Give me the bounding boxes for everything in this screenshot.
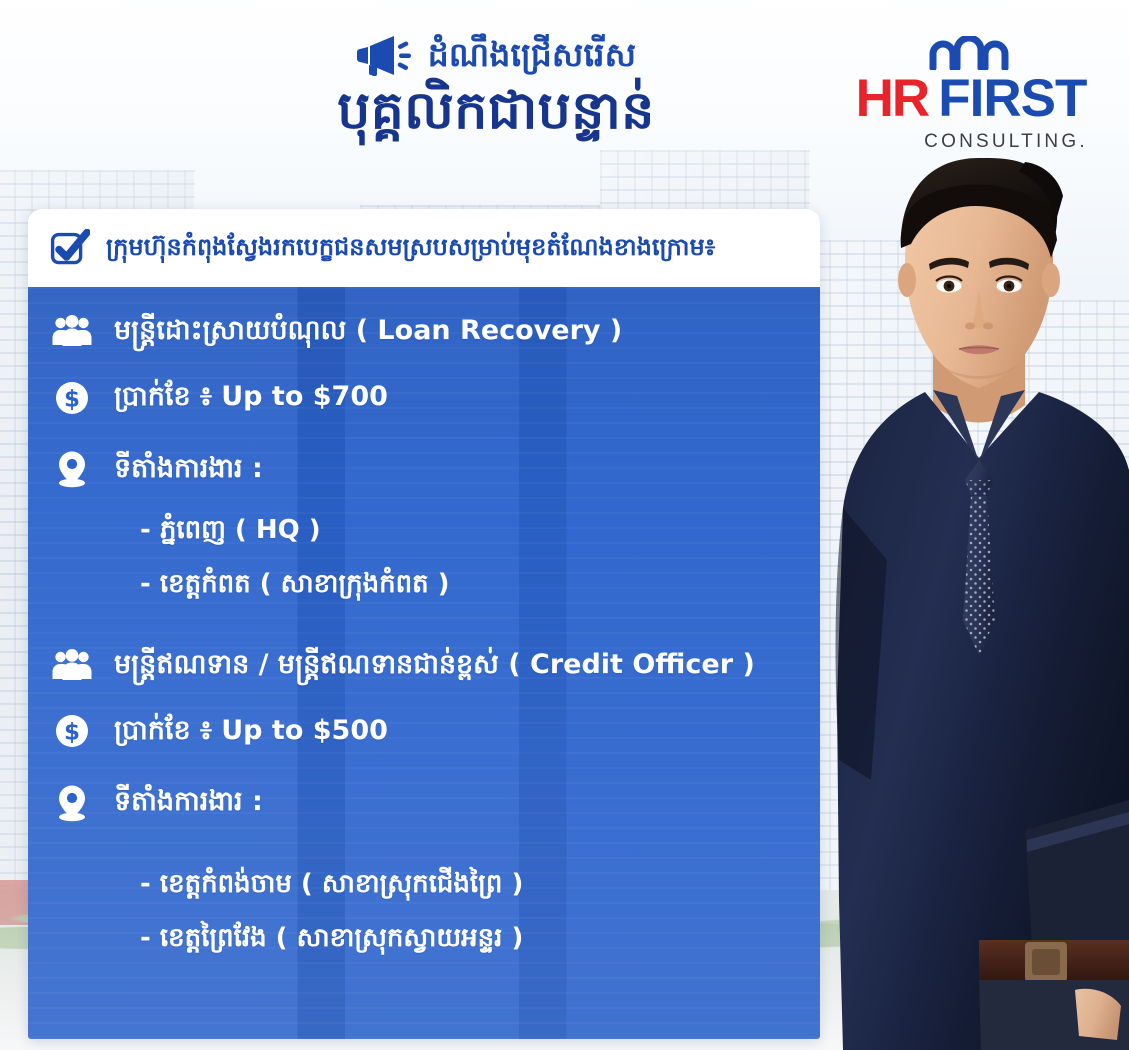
- brand-logo: HR FIRST CONSULTING.: [835, 36, 1107, 153]
- card-body: មន្ត្រីដោះស្រាយបំណុល ( Loan Recovery ) $…: [28, 287, 820, 1039]
- poster-title: បុគ្គលិកជាបន្ទាន់: [186, 80, 806, 142]
- job-salary-row: $ ប្រាក់ខែ ៖ Up to $500: [50, 713, 794, 749]
- job-salary-row: $ ប្រាក់ខែ ៖ Up to $700: [50, 379, 794, 415]
- job-location-item: - ខេត្តព្រៃវែង ( សាខាស្រុកស្វាយអន្ទរ ): [50, 920, 794, 956]
- job-location-item: - ភ្នំពេញ ( HQ ): [50, 512, 794, 548]
- poster-subtitle: ដំណឹងជ្រើសរើស: [428, 34, 637, 75]
- people-group-icon: [50, 315, 94, 347]
- job-position-text: មន្ត្រីដោះស្រាយបំណុល ( Loan Recovery ): [114, 313, 622, 349]
- job-salary-text: ប្រាក់ខែ ៖ Up to $700: [114, 379, 388, 415]
- logo-first-text: FIRST: [938, 72, 1086, 125]
- title-line-1: ដំណឹងជ្រើសរើស: [186, 34, 806, 76]
- job-ad-poster: ដំណឹងជ្រើសរើស បុគ្គលិកជាបន្ទាន់ HR FIRST…: [0, 0, 1129, 1050]
- arches-logo-icon: [835, 36, 1107, 70]
- checkbox-checked-icon: [50, 229, 90, 267]
- people-group-icon: [50, 649, 94, 681]
- logo-hr-text: HR: [856, 72, 929, 125]
- job-location-item: - ខេត្តកំពង់ចាម ( សាខាស្រុកជើងព្រៃ ): [50, 866, 794, 902]
- job-position-row: មន្ត្រីឥណទាន / មន្ត្រីឥណទានជាន់ខ្ពស់ ( C…: [50, 647, 794, 683]
- job-location-label: ទីតាំងការងារ :: [114, 784, 263, 820]
- dollar-circle-icon: $: [50, 381, 94, 415]
- job-location-item: - ខេត្តកំពត ( សាខាក្រុងកំពត ): [50, 566, 794, 602]
- megaphone-icon: [356, 34, 414, 76]
- job-position-row: មន្ត្រីដោះស្រាយបំណុល ( Loan Recovery ): [50, 313, 794, 349]
- job-position-text: មន្ត្រីឥណទាន / មន្ត្រីឥណទានជាន់ខ្ពស់ ( C…: [114, 647, 755, 683]
- job-salary-text: ប្រាក់ខែ ៖ Up to $500: [114, 713, 388, 749]
- dollar-circle-icon: $: [50, 714, 94, 748]
- businessman-portrait: [829, 140, 1129, 1050]
- map-pin-icon: [50, 450, 94, 488]
- job-location-row: ទីតាំងការងារ :: [50, 784, 794, 822]
- card-header-text: ក្រុមហ៊ុនកំពុងស្វែងរកបេក្ខជនសមស្របសម្រាប…: [106, 232, 715, 263]
- card-header: ក្រុមហ៊ុនកំពុងស្វែងរកបេក្ខជនសមស្របសម្រាប…: [28, 209, 820, 287]
- svg-text:$: $: [64, 386, 80, 412]
- job-location-row: ទីតាំងការងារ :: [50, 450, 794, 488]
- title-block: ដំណឹងជ្រើសរើស បុគ្គលិកជាបន្ទាន់: [186, 34, 806, 142]
- logo-wordmark: HR FIRST: [835, 72, 1107, 125]
- map-pin-icon: [50, 784, 94, 822]
- job-location-label: ទីតាំងការងារ :: [114, 451, 263, 487]
- svg-text:$: $: [64, 720, 80, 746]
- job-listing-card: ក្រុមហ៊ុនកំពុងស្វែងរកបេក្ខជនសមស្របសម្រាប…: [28, 209, 820, 1039]
